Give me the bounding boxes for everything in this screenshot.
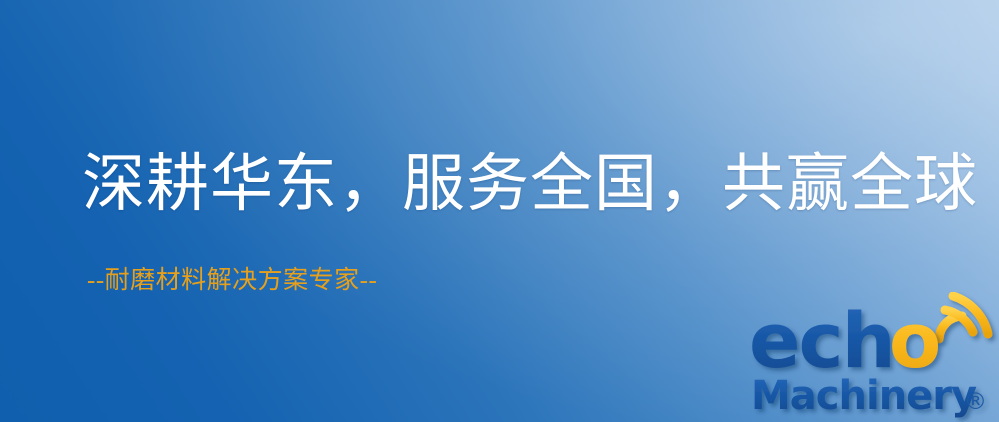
banner-subheadline: --耐磨材料解决方案专家-- [87,268,377,293]
logo-tagline: Machinery [751,373,977,419]
logo-artwork: ech o Machinery ® [745,292,999,422]
logo-registered-mark: ® [964,389,987,415]
echo-machinery-logo[interactable]: ech o Machinery ® [745,292,999,422]
banner-headline: 深耕华东，服务全国，共赢全球 [82,153,978,216]
logo-wordmark-blue: ech [749,296,894,385]
logo-wordmark-gold: o [889,296,941,385]
hero-banner: 深耕华东，服务全国，共赢全球 --耐磨材料解决方案专家-- [0,0,999,422]
signal-arcs-icon [939,296,988,339]
